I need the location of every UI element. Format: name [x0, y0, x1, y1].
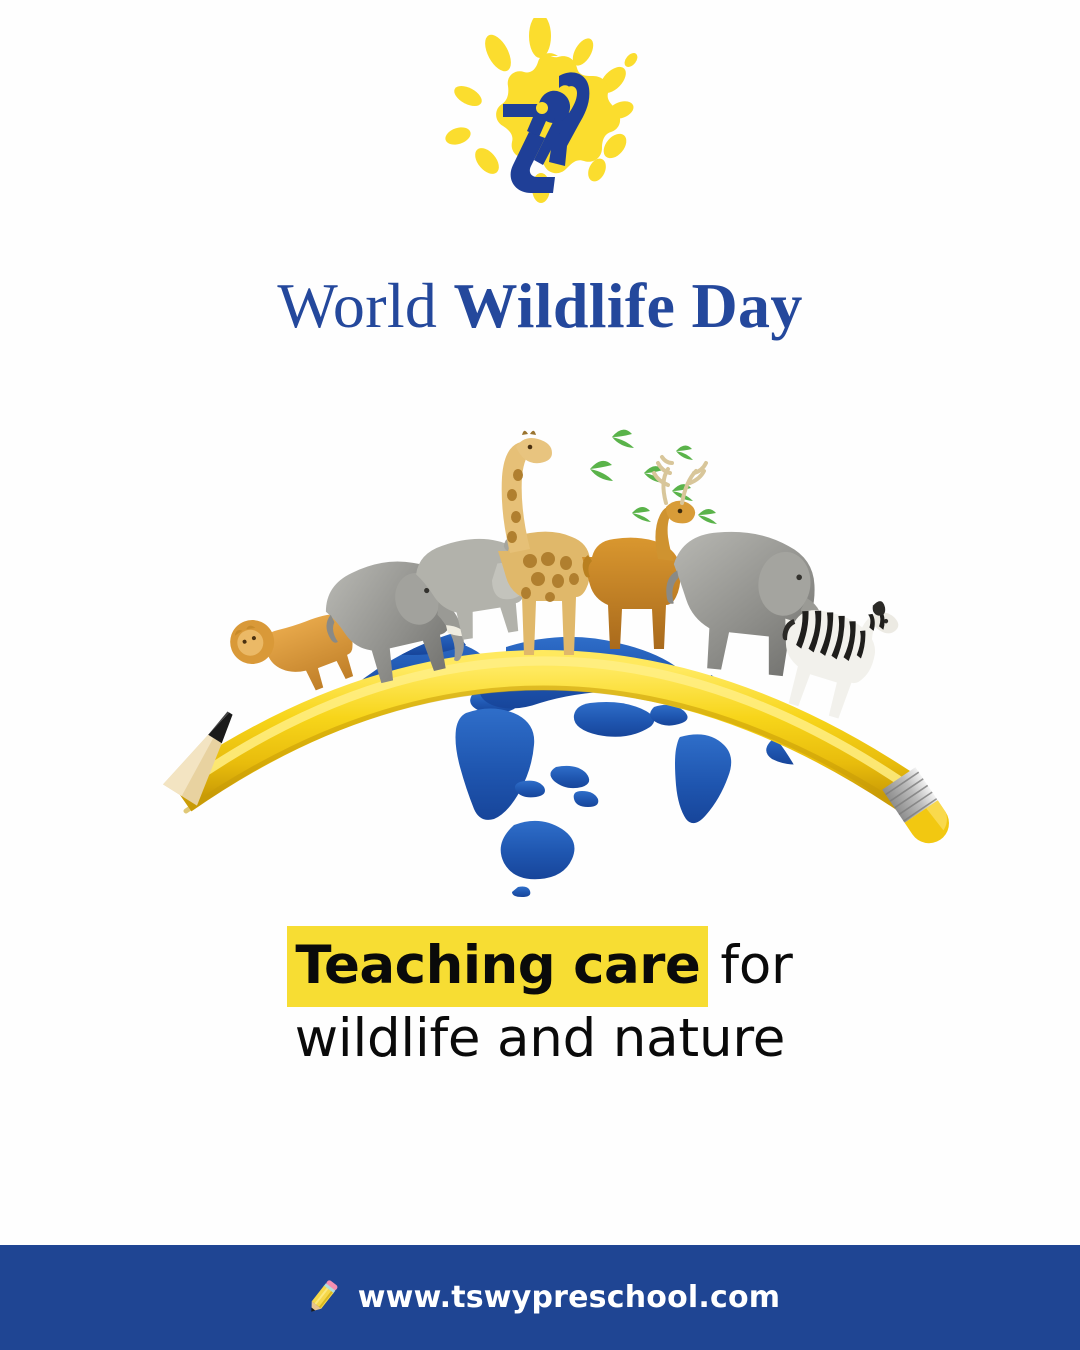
brand-logo[interactable] [0, 18, 1080, 208]
footer-website-url[interactable]: www.tswypreschool.com [358, 1280, 780, 1315]
tagline-line-2: wildlife and nature [0, 1002, 1080, 1076]
tagline-line-1-rest: for [708, 935, 792, 996]
illustration-svg [120, 395, 960, 915]
tagline-line-1: Teaching carefor [0, 930, 1080, 1002]
tagline: Teaching carefor wildlife and nature [0, 930, 1080, 1076]
tagline-highlight: Teaching care [287, 926, 708, 1007]
pencil-globe-wildlife-illustration [120, 395, 960, 915]
bird [676, 445, 693, 460]
footer-bar: www.tswypreschool.com [0, 1245, 1080, 1350]
poster-canvas: World Wildlife Day [0, 0, 1080, 1350]
title-light: World [277, 270, 453, 341]
pencil-emoji-icon [300, 1276, 344, 1320]
bird [590, 461, 613, 481]
page-title: World Wildlife Day [0, 272, 1080, 339]
bird [612, 430, 634, 448]
bird [698, 509, 717, 524]
paint-splat-logo-icon [425, 18, 655, 208]
bird [632, 507, 651, 522]
title-bold: Wildlife Day [454, 270, 803, 341]
